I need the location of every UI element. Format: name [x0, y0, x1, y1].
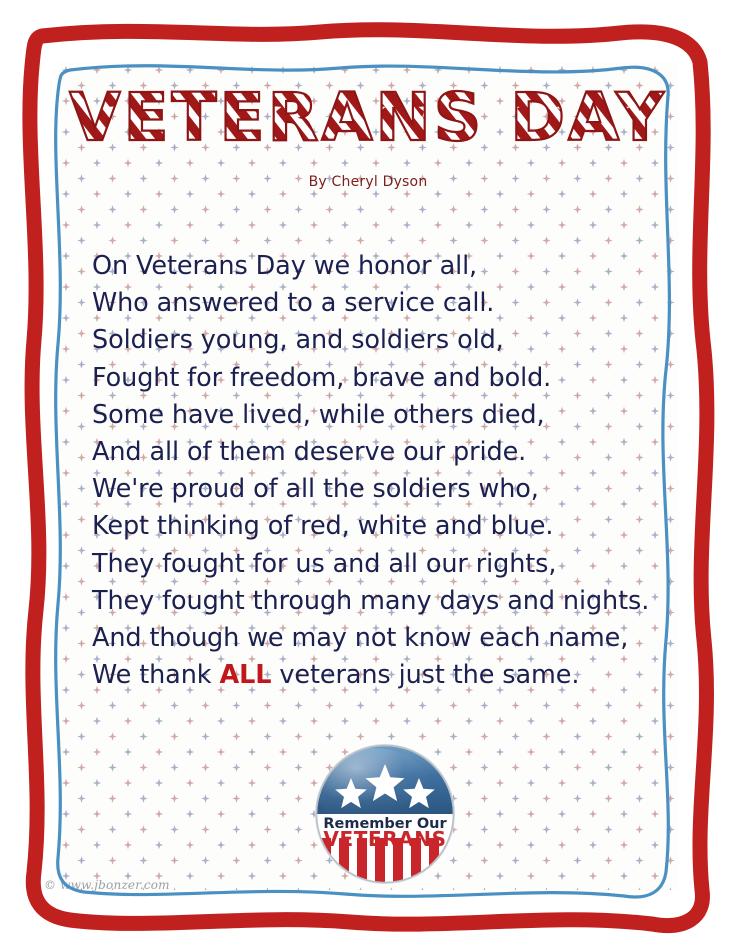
badge-graphic: Remember Our VETERANS [313, 742, 457, 886]
badge-gloss [315, 748, 431, 828]
poem-line: Some have lived, while others died, [92, 397, 652, 434]
poem-line: They fought for us and all our rights, [92, 546, 652, 583]
title-outline-text: VETERANS DAY [69, 79, 666, 156]
poem-line: Kept thinking of red, white and blue. [92, 508, 652, 545]
badge-line2: VETERANS [323, 827, 446, 851]
copyright-notice: © www.jbonzer.com [44, 878, 170, 892]
poem-highlight-all: ALL [219, 660, 271, 690]
byline: By Cheryl Dyson [0, 174, 736, 190]
title-veterans-day: VETERANS DAY [58, 78, 678, 160]
veterans-day-poster: VETERANS DAY [0, 0, 736, 952]
page-title: VETERANS DAY [0, 78, 736, 160]
poem-final-pre: We thank [92, 660, 219, 690]
poem-line: And all of them deserve our pride. [92, 434, 652, 471]
poem-line: We're proud of all the soldiers who, [92, 471, 652, 508]
poem-line: Fought for freedom, brave and bold. [92, 360, 652, 397]
poem-body: On Veterans Day we honor all, Who answer… [92, 248, 652, 694]
poem-line: They fought through many days and nights… [92, 583, 652, 620]
poem-line: On Veterans Day we honor all, [92, 248, 652, 285]
poem-line: Soldiers young, and soldiers old, [92, 322, 652, 359]
poem-line: And though we may not know each name, [92, 620, 652, 657]
poem-line: Who answered to a service call. [92, 285, 652, 322]
remember-our-veterans-badge: Remember Our VETERANS [313, 742, 457, 886]
poem-line-final: We thank ALL veterans just the same. [92, 657, 652, 694]
poem-final-post: veterans just the same. [271, 660, 579, 690]
